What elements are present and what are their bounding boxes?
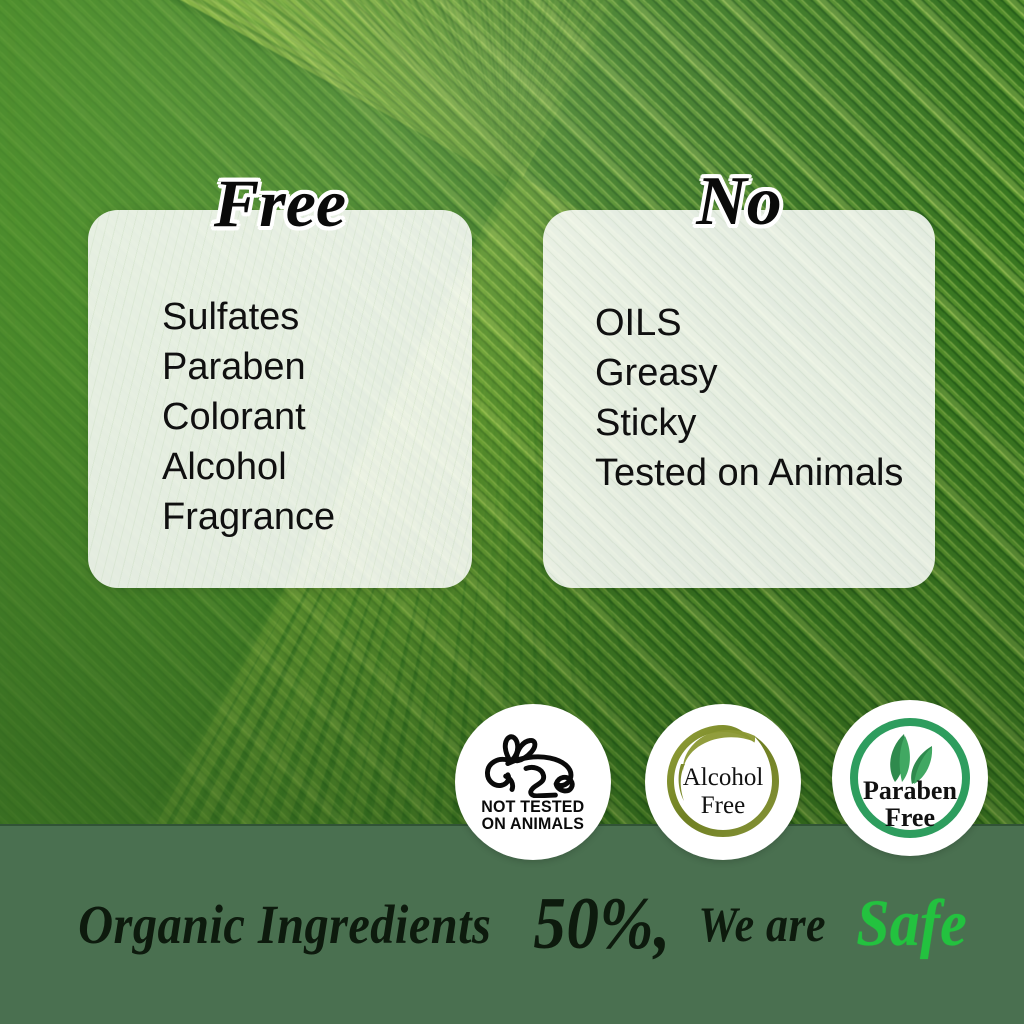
brush-ring-icon	[657, 716, 789, 848]
list-item: Greasy	[595, 348, 935, 398]
badge-paraben-free: Paraben Free	[832, 700, 988, 856]
rabbit-icon	[477, 732, 589, 798]
claims-card-free: Sulfates Paraben Colorant Alcohol Fragra…	[88, 210, 472, 588]
list-item: Sticky	[595, 398, 935, 448]
banner-percent-text: 50%,	[529, 882, 673, 967]
list-item: Colorant	[162, 392, 472, 442]
banner-safe-text: Safe	[842, 886, 967, 962]
badge-caption-line2: ON ANIMALS	[481, 815, 584, 832]
no-ingredient-list: OILS Greasy Sticky Tested on Animals	[543, 210, 935, 588]
free-ingredient-list: Sulfates Paraben Colorant Alcohol Fragra…	[88, 210, 472, 588]
badge-not-tested-on-animals: NOT TESTED ON ANIMALS	[455, 704, 611, 860]
list-item: Alcohol	[162, 442, 472, 492]
leaf-icon	[890, 734, 932, 784]
banner-main-text: Organic Ingredients	[78, 893, 491, 956]
list-item: OILS	[595, 298, 935, 348]
claims-card-no: OILS Greasy Sticky Tested on Animals	[543, 210, 935, 588]
badge-alcohol-free: Alcohol Free	[645, 704, 801, 860]
leaf-ring-icon	[846, 714, 974, 842]
badge-caption-line1: NOT TESTED	[481, 798, 584, 815]
list-item: Fragrance	[162, 492, 472, 542]
list-item: Sulfates	[162, 292, 472, 342]
banner-weare-text: We are	[693, 895, 826, 953]
list-item: Tested on Animals	[595, 448, 935, 498]
poster-canvas: Organic Ingredients 50%, We are Safe Sul…	[0, 0, 1024, 1024]
card-heading-no: No	[543, 162, 935, 242]
list-item: Paraben	[162, 342, 472, 392]
badge-caption: NOT TESTED ON ANIMALS	[481, 798, 584, 833]
card-heading-free: Free	[88, 164, 472, 243]
